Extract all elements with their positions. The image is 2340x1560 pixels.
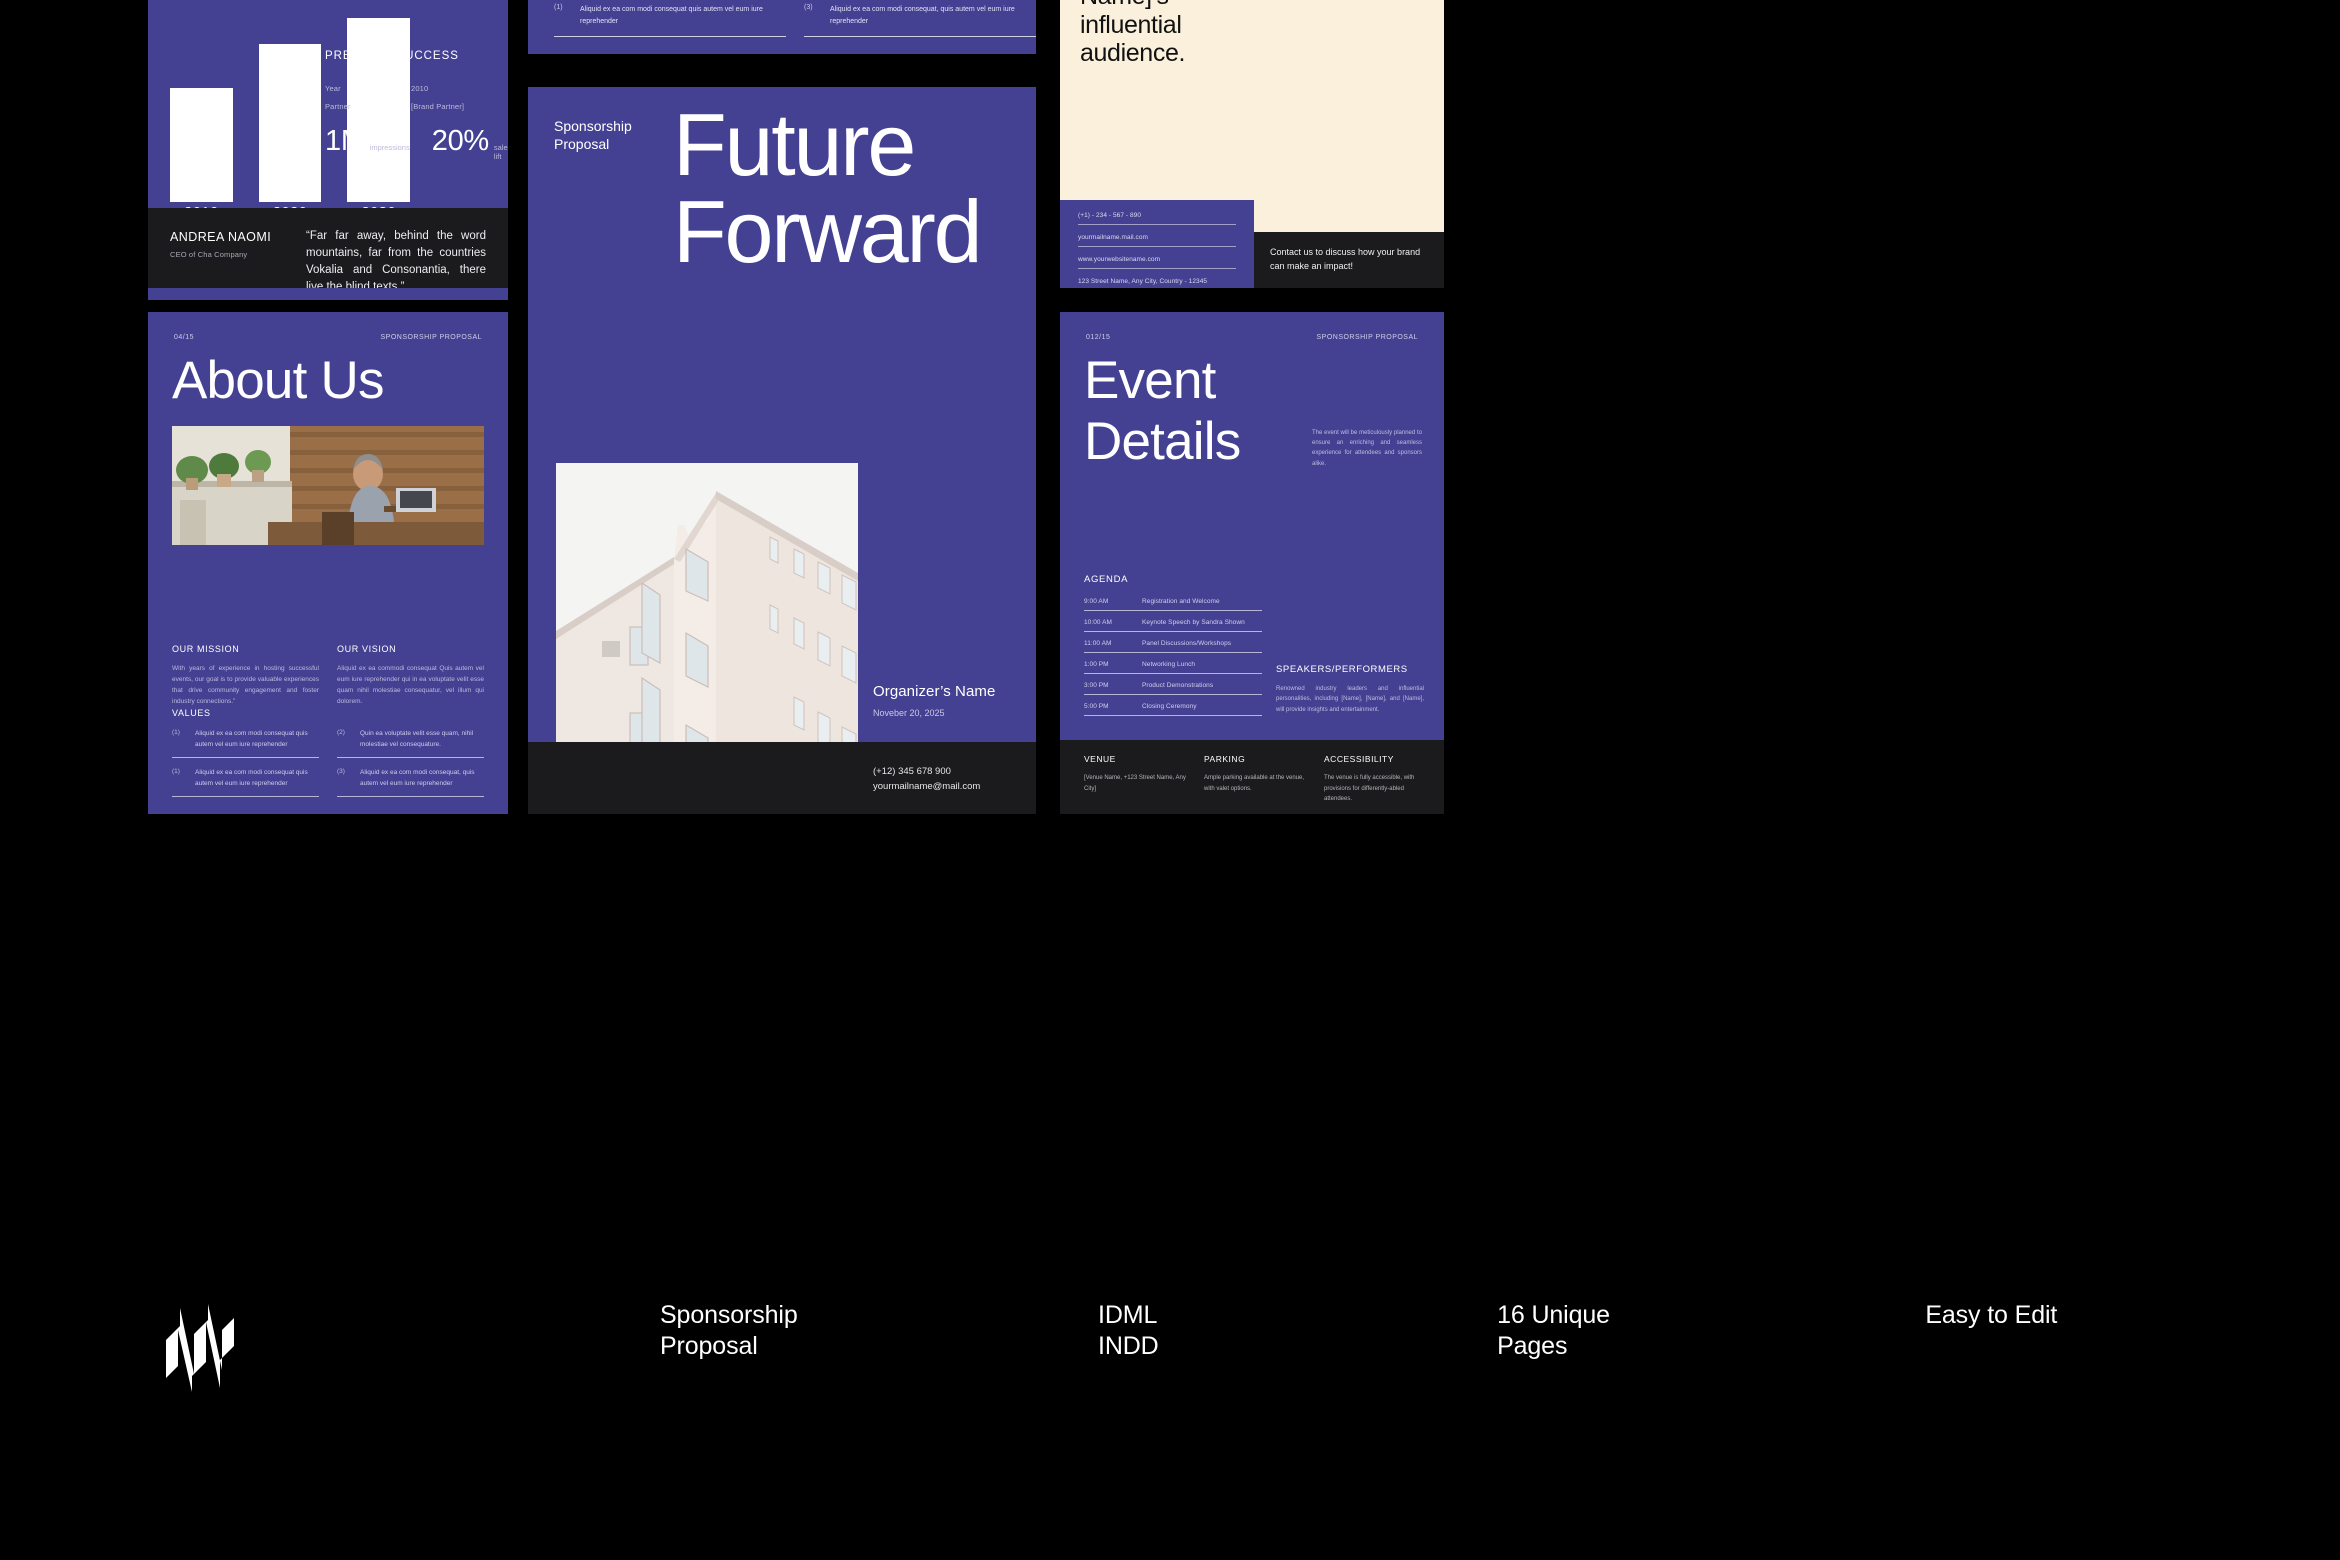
stat-value-year: 2010 (411, 84, 497, 93)
value-item: (1) Aliquid ex ea com modi consequat qui… (172, 768, 319, 797)
agenda-divider (1084, 715, 1262, 716)
value-text: Quin ea voluptate velit esse quam, nihil… (360, 729, 484, 751)
agenda-row: 5:00 PMClosing Ceremony (1084, 703, 1262, 716)
page-title: Event Details (1084, 350, 1240, 472)
event-intro-text: The event will be meticulously planned t… (1312, 428, 1422, 469)
list-number: (3) (804, 4, 819, 28)
agenda-item: Panel Discussions/Workshops (1142, 640, 1231, 647)
speakers-text: Renowned industry leaders and influentia… (1276, 684, 1424, 715)
accessibility-heading: ACCESSIBILITY (1324, 754, 1428, 764)
event-logistics-bar: VENUE [Venue Name, +123 Street Name, Any… (1060, 740, 1444, 814)
value-divider (337, 796, 484, 797)
contact-email: yourmailname.mail.com (1078, 234, 1236, 241)
agenda-time: 5:00 PM (1084, 703, 1142, 710)
agenda-time: 11:00 AM (1084, 640, 1142, 647)
stat-table: Year 2010 Partner [Brand Partner] (325, 84, 497, 111)
mission-text: With years of experience in hosting succ… (172, 663, 319, 707)
cover-title-line2: Forward (673, 188, 980, 275)
event-details-page: 012/15 SPONSORSHIP PROPOSAL Event Detail… (1060, 312, 1444, 814)
top-list-item: (1) Aliquid ex ea com modi consequat qui… (554, 4, 786, 37)
logistics-grid: VENUE [Venue Name, +123 Street Name, Any… (1084, 754, 1428, 805)
list-number: (1) (554, 4, 569, 28)
accessibility-block: ACCESSIBILITY The venue is fully accessi… (1324, 754, 1428, 805)
agenda-time: 3:00 PM (1084, 682, 1142, 689)
testimonial-text: “Far far away, behind the word mountains… (306, 228, 486, 288)
cta-block: Contact us to discuss how your brand can… (1254, 232, 1444, 288)
cover-organizer: Organizer’s Name Noveber 20, 2025 (873, 683, 1023, 718)
statement-panel: Name]’s influential audience. (1060, 0, 1254, 200)
cover-email: yourmailname@mail.com (873, 779, 980, 794)
page-header: 012/15 SPONSORSHIP PROPOSAL (1086, 334, 1418, 341)
value-divider (337, 757, 484, 758)
metric-saleslift-value: 20% (432, 127, 489, 156)
footer-item: Easy to Edit (1925, 1300, 2120, 1363)
values-grid: (1) Aliquid ex ea com modi consequat qui… (172, 729, 484, 797)
agenda-divider (1084, 694, 1262, 695)
cover-title: Future Forward (673, 101, 980, 275)
contact-list: (+1) - 234 - 567 - 890 yourmailname.mail… (1078, 212, 1236, 288)
stat-label-year: Year (325, 84, 411, 93)
agenda-divider (1084, 673, 1262, 674)
bar-2020 (259, 44, 322, 202)
agenda-time: 9:00 AM (1084, 598, 1142, 605)
cover-building-photo (556, 463, 858, 789)
agenda-heading: AGENDA (1084, 574, 1262, 585)
vision-text: Aliquid ex ea commodi consequat Quis aut… (337, 663, 484, 707)
value-text: Aliquid ex ea com modi consequat, quis a… (360, 768, 484, 790)
value-text: Aliquid ex ea com modi consequat quis au… (195, 729, 319, 751)
top-list-panel: (1) Aliquid ex ea com modi consequat qui… (528, 0, 1036, 54)
cover-page: Sponsorship Proposal Future Forward (528, 87, 1036, 814)
venue-text: [Venue Name, +123 Street Name, Any City] (1084, 773, 1188, 794)
value-item: (3) Aliquid ex ea com modi consequat, qu… (337, 768, 484, 797)
list-text: Aliquid ex ea com modi consequat quis au… (580, 4, 786, 28)
footer-item: IDML INDD (1098, 1300, 1497, 1363)
value-number: (2) (337, 729, 350, 751)
cta-text: Contact us to discuss how your brand can… (1270, 246, 1432, 274)
value-text: Aliquid ex ea com modi consequat quis au… (195, 768, 319, 790)
list-divider (554, 36, 786, 37)
headline-metrics: 1M impressions 20% sales lift (325, 127, 497, 161)
agenda-row: 11:00 AMPanel Discussions/Workshops (1084, 640, 1262, 653)
mission-vision: OUR MISSION With years of experience in … (172, 644, 484, 707)
values-block: VALUES (1) Aliquid ex ea com modi conseq… (172, 708, 484, 797)
cover-kicker: Sponsorship Proposal (554, 117, 632, 154)
venue-heading: VENUE (1084, 754, 1188, 764)
list-text: Aliquid ex ea com modi consequat, quis a… (830, 4, 1036, 28)
cover-contact: (+12) 345 678 900 yourmailname@mail.com (873, 764, 980, 794)
agenda-row: 10:00 AMKeynote Speech by Sandra Shown (1084, 619, 1262, 632)
document-label: SPONSORSHIP PROPOSAL (1317, 334, 1418, 341)
footer-item: Sponsorship Proposal (660, 1300, 1098, 1363)
values-heading: VALUES (172, 708, 484, 718)
success-stats: PREVIOUS SUCCESS Year 2010 Partner [Bran… (325, 50, 497, 161)
mission-heading: OUR MISSION (172, 644, 319, 654)
contact-card: (+1) - 234 - 567 - 890 yourmailname.mail… (1060, 200, 1254, 288)
agenda-row: 3:00 PMProduct Demonstrations (1084, 682, 1262, 695)
cover-title-line1: Future (673, 101, 980, 188)
agenda-item: Keynote Speech by Sandra Shown (1142, 619, 1245, 626)
metric-saleslift-unit: sales lift (494, 143, 508, 161)
page-number: 04/15 (174, 334, 194, 341)
author-name: ANDREA NAOMI (170, 230, 280, 244)
contact-address: 123 Street Name, Any City, Country - 123… (1078, 278, 1236, 285)
metric-impressions-unit: impressions (370, 143, 410, 152)
statement-text: Name]’s influential audience. (1080, 0, 1240, 68)
footer-item: 16 Unique Pages (1497, 1300, 1925, 1363)
metric-impressions-value: 1M (325, 127, 365, 156)
contact-divider (1078, 224, 1236, 225)
agenda-row: 1:00 PMNetworking Lunch (1084, 661, 1262, 674)
agenda-item: Networking Lunch (1142, 661, 1195, 668)
contact-phone: (+1) - 234 - 567 - 890 (1078, 212, 1236, 219)
value-number: (3) (337, 768, 350, 790)
speakers-heading: SPEAKERS/PERFORMERS (1276, 664, 1424, 675)
value-item: (2) Quin ea voluptate velit esse quam, n… (337, 729, 484, 758)
venue-block: VENUE [Venue Name, +123 Street Name, Any… (1084, 754, 1188, 805)
list-divider (804, 36, 1036, 37)
vision-heading: OUR VISION (337, 644, 484, 654)
parking-block: PARKING Ample parking available at the v… (1204, 754, 1308, 805)
value-number: (1) (172, 729, 185, 751)
document-label: SPONSORSHIP PROPOSAL (381, 334, 482, 341)
organizer-name: Organizer’s Name (873, 683, 1023, 700)
event-title-line2: Details (1084, 411, 1240, 472)
accessibility-text: The venue is fully accessible, with prov… (1324, 773, 1428, 805)
value-divider (172, 757, 319, 758)
contact-divider (1078, 246, 1236, 247)
agenda-item: Product Demonstrations (1142, 682, 1213, 689)
cover-phone: (+12) 345 678 900 (873, 764, 980, 779)
about-us-page: 04/15 SPONSORSHIP PROPOSAL About Us (148, 312, 508, 814)
cream-block-right (1254, 0, 1444, 232)
agenda-divider (1084, 610, 1262, 611)
contact-website: www.yourwebsitename.com (1078, 256, 1236, 263)
top-list-item: (3) Aliquid ex ea com modi consequat, qu… (804, 4, 1036, 37)
speakers-block: SPEAKERS/PERFORMERS Renowned industry le… (1276, 664, 1424, 715)
event-title-line1: Event (1084, 350, 1240, 411)
value-number: (1) (172, 768, 185, 790)
agenda-block: AGENDA 9:00 AMRegistration and Welcome 1… (1084, 574, 1262, 724)
vision-block: OUR VISION Aliquid ex ea commodi consequ… (337, 644, 484, 707)
contact-divider (1078, 268, 1236, 269)
parking-text: Ample parking available at the venue, wi… (1204, 773, 1308, 794)
page-header: 04/15 SPONSORSHIP PROPOSAL (174, 334, 482, 341)
previous-success-heading: PREVIOUS SUCCESS (325, 50, 497, 62)
author-role: CEO of Cha Company (170, 250, 280, 259)
bar-2010 (170, 88, 233, 202)
agenda-item: Closing Ceremony (1142, 703, 1197, 710)
value-divider (172, 796, 319, 797)
zigzag-monogram-logo-icon (160, 1300, 240, 1392)
agenda-time: 1:00 PM (1084, 661, 1142, 668)
agenda-divider (1084, 652, 1262, 653)
agenda-time: 10:00 AM (1084, 619, 1142, 626)
cover-footer: (+12) 345 678 900 yourmailname@mail.com (528, 742, 1036, 814)
agenda-row: 9:00 AMRegistration and Welcome (1084, 598, 1262, 611)
page-title: About Us (172, 350, 384, 411)
agenda-divider (1084, 631, 1262, 632)
testimonial-strip: ANDREA NAOMI CEO of Cha Company “Far far… (148, 208, 508, 288)
agenda-item: Registration and Welcome (1142, 598, 1220, 605)
testimonial-author: ANDREA NAOMI CEO of Cha Company (170, 230, 280, 259)
poster-canvas: 2010 2020 2030 PREVIOUS SUCCESS Year 201… (0, 0, 2340, 1560)
footer-feature-list: Sponsorship Proposal IDML INDD 16 Unique… (660, 1300, 2120, 1363)
stat-label-partner: Partner (325, 102, 411, 111)
parking-heading: PARKING (1204, 754, 1308, 764)
value-item: (1) Aliquid ex ea com modi consequat qui… (172, 729, 319, 758)
top-list-grid: (1) Aliquid ex ea com modi consequat qui… (554, 4, 1036, 37)
mission-block: OUR MISSION With years of experience in … (172, 644, 319, 707)
footer-bar (0, 1240, 2340, 1560)
about-team-photo (172, 426, 484, 545)
stat-value-partner: [Brand Partner] (411, 102, 497, 111)
page-number: 012/15 (1086, 334, 1110, 341)
event-date: Noveber 20, 2025 (873, 708, 1023, 718)
